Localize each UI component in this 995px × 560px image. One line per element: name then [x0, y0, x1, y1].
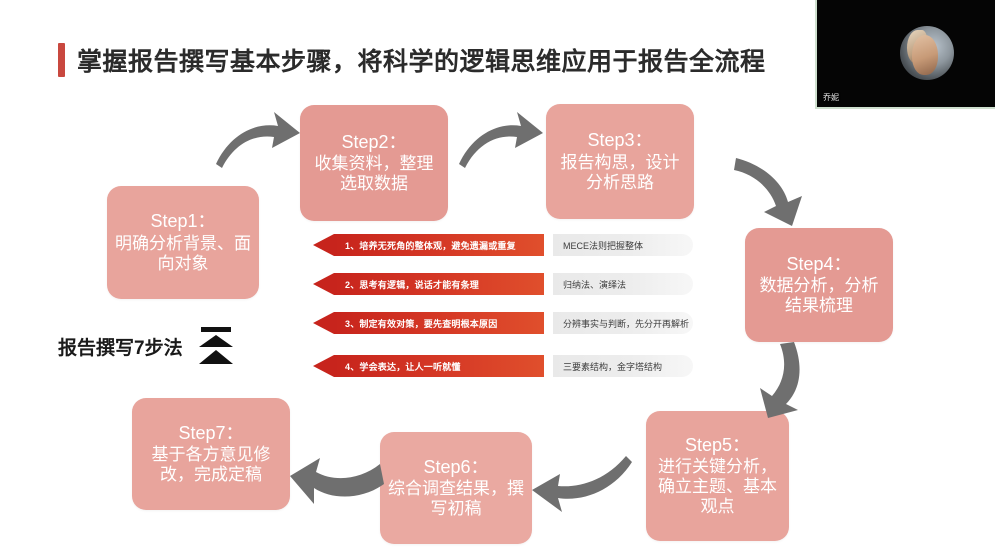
avatar: [900, 26, 954, 80]
principle-row: 2、思考有逻辑，说话才能有条理 归纳法、演绎法: [313, 273, 693, 295]
principle-note-text: MECE法则把握整体: [563, 239, 643, 252]
principle-label-text: 2、思考有逻辑，说话才能有条理: [345, 278, 479, 291]
arrow-step1-to-step2-icon: [212, 108, 302, 174]
stacked-triangles-icon: [197, 326, 235, 366]
principle-note-bar: 分辨事实与判断，先分开再解析: [553, 312, 693, 334]
seven-step-method-label: 报告撰写7步法: [58, 326, 235, 366]
step-6-body: 综合调查结果，撰写初稿: [388, 479, 524, 519]
page-title: 掌握报告撰写基本步骤，将科学的逻辑思维应用于报告全流程: [77, 42, 766, 78]
principle-note-bar: MECE法则把握整体: [553, 234, 693, 256]
principle-label-bar: 2、思考有逻辑，说话才能有条理: [334, 273, 544, 295]
step-5-head: Step5：: [685, 435, 750, 456]
step-3-head: Step3：: [587, 130, 652, 151]
principle-note-text: 三要素结构，金字塔结构: [563, 360, 662, 373]
seven-step-method-text: 报告撰写7步法: [58, 333, 183, 360]
left-chevron-icon: [313, 273, 334, 295]
step-box-6: Step6： 综合调查结果，撰写初稿: [380, 432, 532, 544]
step-2-body: 收集资料，整理选取数据: [308, 154, 440, 194]
step-3-body: 报告构思，设计分析思路: [554, 153, 686, 193]
slide-title-bar: 掌握报告撰写基本步骤，将科学的逻辑思维应用于报告全流程: [58, 42, 766, 78]
principle-label-text: 3、制定有效对策，要先查明根本原因: [345, 317, 497, 330]
principle-label-text: 1、培养无死角的整体观，避免遗漏或重复: [345, 239, 516, 252]
left-chevron-icon: [313, 234, 334, 256]
presentation-slide: 掌握报告撰写基本步骤，将科学的逻辑思维应用于报告全流程 Step1： 明确分析背…: [0, 0, 995, 560]
left-chevron-icon: [313, 312, 334, 334]
arrow-step5-to-step6-icon: [528, 450, 638, 520]
step-7-head: Step7：: [178, 423, 243, 444]
participant-name: 乔妮: [823, 92, 839, 103]
left-chevron-icon: [313, 355, 334, 377]
principle-label-bar: 1、培养无死角的整体观，避免遗漏或重复: [334, 234, 544, 256]
step-5-body: 进行关键分析，确立主题、基本观点: [654, 457, 781, 517]
arrow-step4-to-step5-icon: [742, 338, 822, 422]
principle-row: 3、制定有效对策，要先查明根本原因 分辨事实与判断，先分开再解析: [313, 312, 693, 334]
arrow-step3-to-step4-icon: [730, 150, 810, 230]
principle-row: 4、学会表达，让人一听就懂 三要素结构，金字塔结构: [313, 355, 693, 377]
step-box-4: Step4： 数据分析，分析结果梳理: [745, 228, 893, 342]
step-2-head: Step2：: [341, 132, 406, 153]
step-1-body: 明确分析背景、面向对象: [115, 234, 251, 274]
step-4-body: 数据分析，分析结果梳理: [753, 276, 885, 316]
principle-note-bar: 三要素结构，金字塔结构: [553, 355, 693, 377]
title-accent-bar: [58, 43, 65, 77]
principle-note-text: 归纳法、演绎法: [563, 278, 626, 291]
principle-label-bar: 3、制定有效对策，要先查明根本原因: [334, 312, 544, 334]
principle-note-bar: 归纳法、演绎法: [553, 273, 693, 295]
step-6-head: Step6：: [423, 457, 488, 478]
principle-row: 1、培养无死角的整体观，避免遗漏或重复 MECE法则把握整体: [313, 234, 693, 256]
avatar-face: [912, 35, 938, 75]
step-box-5: Step5： 进行关键分析，确立主题、基本观点: [646, 411, 789, 541]
step-4-head: Step4：: [786, 254, 851, 275]
participant-video-panel[interactable]: 乔妮: [815, 0, 995, 109]
step-box-7: Step7： 基于各方意见修改，完成定稿: [132, 398, 290, 510]
step-box-3: Step3： 报告构思，设计分析思路: [546, 104, 694, 219]
step-box-2: Step2： 收集资料，整理选取数据: [300, 105, 448, 221]
step-7-body: 基于各方意见修改，完成定稿: [140, 445, 282, 485]
step-box-1: Step1： 明确分析背景、面向对象: [107, 186, 259, 299]
step-1-head: Step1：: [150, 211, 215, 232]
arrow-step2-to-step3-icon: [455, 108, 547, 176]
principle-label-bar: 4、学会表达，让人一听就懂: [334, 355, 544, 377]
arrow-step6-to-step7-icon: [288, 444, 388, 516]
principle-note-text: 分辨事实与判断，先分开再解析: [563, 317, 689, 330]
principle-label-text: 4、学会表达，让人一听就懂: [345, 360, 461, 373]
